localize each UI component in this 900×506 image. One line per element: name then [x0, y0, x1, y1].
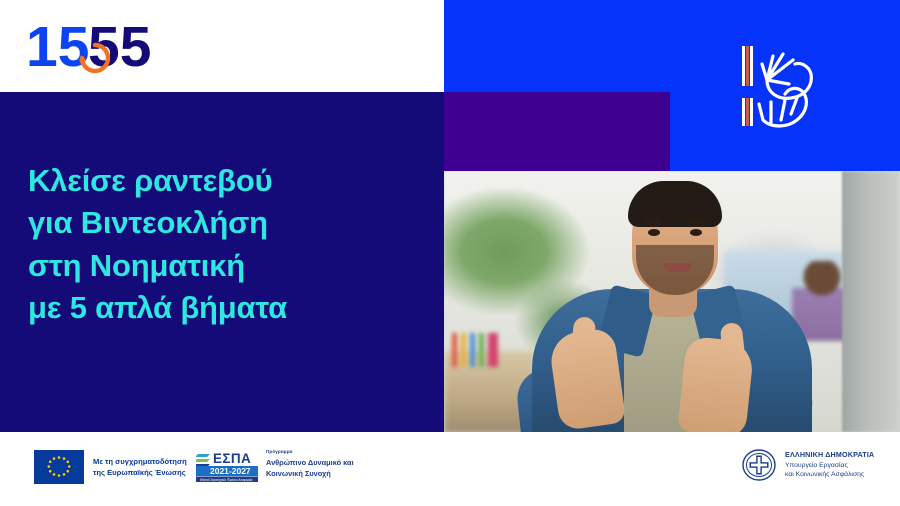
man-signing-photo	[444, 171, 900, 432]
photo-hair	[628, 181, 722, 227]
eu-text-line-1: Με τη συγχρηματοδότηση	[93, 456, 187, 467]
photo-hand-left	[548, 327, 627, 431]
headline-line-2: για Βιντεοκλήση	[28, 202, 428, 244]
programme-label: Πρόγραμμα	[266, 449, 354, 454]
promo-banner: 15 55 Κλείσε ραντεβού για Βιντεοκλήση στ…	[0, 0, 900, 506]
eu-cofunding-text: Με τη συγχρηματοδότηση της Ευρωπαϊκής Έν…	[93, 456, 187, 478]
government-line-1: Υπουργείο Εργασίας	[785, 461, 874, 471]
logo-1555[interactable]: 15 55	[26, 18, 176, 76]
footer-logo-bar: Με τη συγχρηματοδότηση της Ευρωπαϊκής Έν…	[0, 432, 900, 506]
photo-eyebrow-right	[687, 219, 705, 224]
svg-text:ΕΣΠΑ: ΕΣΠΑ	[213, 451, 251, 466]
government-ministry: Υπουργείο Εργασίας και Κοινωνικής Ασφάλι…	[785, 461, 874, 480]
espa-logo: ΕΣΠΑ 2021-2027 Εθνικό Στρατηγικό Πλαίσιο…	[196, 449, 258, 485]
headline-line-3: στη Νοηματική	[28, 245, 428, 287]
svg-text:2021-2027: 2021-2027	[210, 466, 251, 476]
headline-line-1: Κλείσε ραντεβού	[28, 160, 428, 202]
page-title: Κλείσε ραντεβού για Βιντεοκλήση στη Νοημ…	[28, 160, 428, 330]
photo-eye-left	[648, 229, 660, 236]
programme-logo: Πρόγραμμα Ανθρώπινο Δυναμικό και Κοινωνι…	[266, 449, 354, 479]
hellenic-republic-logo: ΕΛΛΗΝΙΚΗ ΔΗΜΟΚΡΑΤΙΑ Υπουργείο Εργασίας κ…	[742, 448, 874, 482]
photo-pencil-cup	[452, 333, 498, 367]
european-union-flag	[34, 450, 84, 484]
espa-logo-mark: ΕΣΠΑ 2021-2027 Εθνικό Στρατηγικό Πλαίσιο…	[196, 449, 258, 485]
programme-line-1: Ανθρώπινο Δυναμικό και	[266, 457, 354, 468]
photo-hand-right	[677, 336, 755, 432]
hellenic-republic-seal	[742, 448, 776, 482]
svg-text:15: 15	[26, 18, 89, 76]
sign-language-hands-icon	[737, 42, 829, 130]
photo-pillar	[842, 171, 900, 432]
government-title: ΕΛΛΗΝΙΚΗ ΔΗΜΟΚΡΑΤΙΑ	[785, 450, 874, 459]
programme-line-2: Κοινωνική Συνοχή	[266, 468, 354, 479]
programme-name: Ανθρώπινο Δυναμικό και Κοινωνική Συνοχή	[266, 457, 354, 479]
eu-text-line-2: της Ευρωπαϊκής Ένωσης	[93, 467, 187, 478]
photo-eye-right	[690, 229, 702, 236]
purple-accent-block	[444, 92, 670, 172]
headline-line-4: με 5 απλά βήματα	[28, 287, 428, 329]
eu-cofunding-logo: Με τη συγχρηματοδότηση της Ευρωπαϊκής Έν…	[34, 450, 187, 484]
photo-eyebrow-left	[645, 219, 663, 224]
espa-tagline: Εθνικό Στρατηγικό Πλαίσιο Αναφοράς	[200, 478, 253, 482]
government-line-2: και Κοινωνικής Ασφάλισης	[785, 470, 874, 480]
